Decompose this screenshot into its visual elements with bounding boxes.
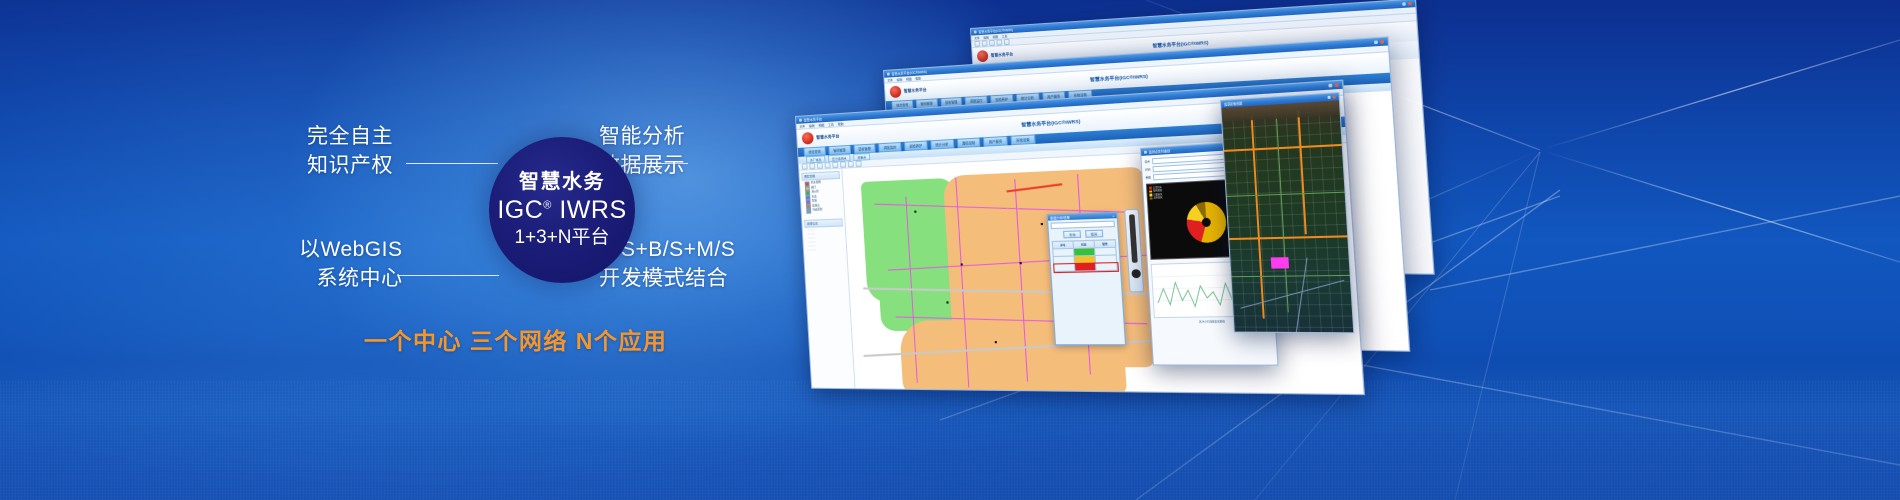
minimize-icon[interactable] — [799, 119, 802, 122]
hub-subtitle: 1+3+N平台 — [514, 227, 609, 249]
nav-item-4[interactable]: 巡检养护 — [904, 140, 928, 151]
menu-item-file[interactable]: 文件 — [887, 78, 893, 82]
screenshot-stack: 智慧水务平台(IGC®IWRS) 文件 编辑 视图 工具 智慧水务平台 智慧 — [795, 28, 1495, 388]
hub-title-en-second: IWRS — [559, 196, 626, 224]
floor-texture — [0, 380, 1900, 500]
map-node — [961, 263, 963, 265]
tool-print-icon[interactable] — [989, 40, 995, 46]
nav-sub-item-2[interactable]: 流量点 — [853, 153, 870, 161]
maximize-icon[interactable] — [1374, 40, 1378, 44]
legend-swatch — [1149, 187, 1152, 190]
tree-node-6[interactable]: 行政区划 — [803, 207, 842, 213]
minimize-icon[interactable] — [1144, 151, 1147, 154]
road-minor-h2 — [1231, 275, 1349, 278]
brand-text-back: 智慧水务平台 — [991, 51, 1014, 58]
selected-parcel[interactable] — [1271, 257, 1289, 268]
feature-label-top-right-line1: 智能分析 — [599, 125, 685, 148]
status-left: 就绪 — [815, 393, 820, 395]
menu-item-view[interactable]: 视图 — [906, 77, 912, 81]
maximize-icon[interactable] — [1328, 84, 1332, 88]
nav-item-6[interactable]: 漏损控制 — [956, 137, 980, 148]
feature-label-top-left: 完全自主 知识产权 — [307, 123, 393, 181]
dialog-confirm-button[interactable]: 查询 — [1063, 230, 1081, 238]
tool-zoom-in-icon[interactable] — [809, 163, 815, 169]
hub-title-en-main: IGC — [497, 196, 543, 224]
attr-row-5: ········· — [806, 247, 845, 252]
table-row[interactable] — [1054, 263, 1118, 272]
legend-swatch — [1149, 194, 1152, 197]
tool-pan-icon[interactable] — [825, 162, 831, 168]
legend-label-3: 其他损耗 — [1153, 196, 1162, 200]
feature-label-top-left-line2: 知识产权 — [307, 152, 393, 181]
map-node — [1041, 223, 1043, 225]
tool-save-icon[interactable] — [982, 40, 988, 46]
road-major-h1 — [1224, 144, 1342, 152]
menu-item-edit[interactable]: 编辑 — [983, 35, 989, 39]
map-node — [995, 341, 997, 343]
brand-text-front: 智慧水务平台 — [816, 133, 839, 140]
analysis-dialog-buttons[interactable]: 查询 取消 — [1051, 229, 1116, 239]
road-major-v1 — [1251, 116, 1265, 318]
map-node — [1019, 262, 1021, 264]
hero-banner: 完全自主 知识产权 以WebGIS 系统中心 智能分析 数据展示 C/S+B/S… — [0, 0, 1900, 500]
dialog-cancel-button[interactable]: 取消 — [1085, 230, 1103, 238]
nav-item-7[interactable]: 用户服务 — [983, 136, 1008, 147]
tool-measure-icon[interactable] — [832, 162, 838, 168]
close-icon[interactable] — [1380, 40, 1384, 44]
feature-label-bottom-right-line2: 开发模式结合 — [599, 265, 735, 294]
feature-label-bottom-left-line1: 以WebGIS — [299, 238, 402, 261]
maximize-icon[interactable] — [1402, 2, 1406, 5]
nav-item-5[interactable]: 统计分析 — [930, 139, 954, 150]
minimize-icon[interactable] — [887, 73, 890, 76]
tool-query-icon[interactable] — [848, 161, 854, 167]
product-hub-circle: 智慧水务 IGC® IWRS 1+3+N平台 — [489, 137, 635, 283]
hub-title-en: IGC® IWRS — [497, 196, 626, 226]
tool-print-icon[interactable] — [856, 161, 862, 167]
road-minor-h1 — [1227, 192, 1345, 198]
tool-identify-icon[interactable] — [840, 161, 846, 167]
company-logo-icon — [802, 132, 814, 145]
feature-label-bottom-left-line2: 系统中心 — [299, 265, 402, 294]
nav-item-8[interactable]: 系统设置 — [1010, 134, 1035, 145]
road-water-1 — [1240, 280, 1344, 309]
map-node — [914, 211, 916, 213]
menu-item-help[interactable]: 帮助 — [915, 76, 921, 80]
menu-item-view[interactable]: 视图 — [992, 34, 998, 38]
satellite-map-canvas[interactable] — [1221, 100, 1353, 333]
dialog-close-icon[interactable]: × — [1112, 213, 1114, 217]
nav-item-3[interactable]: 调度监控 — [878, 142, 901, 153]
tree-node-label-6: 行政区划 — [812, 208, 822, 212]
donut-legend: 正常供水 管网漏损 计量损失 其他损耗 — [1149, 186, 1163, 200]
pan-pad-icon[interactable] — [1131, 269, 1141, 278]
connector-line-bottom-left — [399, 275, 499, 276]
tool-zoom-out-icon[interactable] — [817, 163, 823, 169]
menu-item-edit[interactable]: 编辑 — [897, 77, 903, 81]
feature-label-top-left-line1: 完全自主 — [307, 125, 393, 148]
connector-line-top-left — [406, 163, 498, 164]
close-icon[interactable] — [1335, 83, 1339, 87]
menu-item-view[interactable]: 视图 — [818, 123, 824, 127]
road-major-v2 — [1297, 111, 1306, 234]
company-logo-icon — [890, 86, 902, 98]
legend-entry-3: 其他损耗 — [1150, 196, 1163, 200]
menu-item-file[interactable]: 文件 — [974, 36, 980, 40]
tool-open-icon[interactable] — [974, 41, 980, 47]
tool-zoom-icon[interactable] — [996, 39, 1002, 45]
menu-item-help[interactable]: 帮助 — [838, 121, 844, 125]
banner-tagline: 一个中心 三个网络 N个应用 — [364, 322, 667, 356]
menu-item-edit[interactable]: 编辑 — [809, 123, 815, 127]
minimize-icon[interactable] — [974, 30, 977, 33]
map-node — [946, 301, 948, 303]
donut-graphic — [1185, 201, 1227, 243]
brand-text-middle: 智慧水务平台 — [904, 87, 927, 94]
analysis-input-field[interactable] — [1050, 221, 1115, 230]
feature-label-bottom-left: 以WebGIS 系统中心 — [299, 236, 402, 294]
tree-group-attributes[interactable]: 属性信息 — [804, 218, 843, 227]
registered-mark-icon: ® — [543, 200, 552, 212]
filter-label-0: 站点 — [1144, 159, 1150, 163]
menu-item-file[interactable]: 文件 — [799, 124, 805, 128]
zoom-slider[interactable] — [1129, 214, 1138, 262]
legend-swatch — [1149, 190, 1152, 193]
screenshot-window-satellite-map: 遥感影像底图 就绪 比例尺 1:5000 — [1220, 92, 1354, 333]
minimize-icon[interactable] — [1327, 96, 1330, 99]
analysis-dialog[interactable]: 断面分析结果 × 查询 取消 序号 — [1047, 212, 1126, 346]
layer-swatch-icon — [806, 209, 811, 214]
app-title-front: 智慧水务平台(IGC®IWRS) — [1021, 119, 1080, 129]
tool-pan-icon[interactable] — [1004, 39, 1010, 45]
app-title-middle: 智慧水务平台(IGC®IWRS) — [1090, 74, 1148, 84]
menu-item-tools[interactable]: 工具 — [1002, 34, 1008, 38]
hub-title-cn: 智慧水务 — [519, 171, 605, 195]
filter-label-2: 参数 — [1145, 175, 1151, 179]
company-logo-icon — [977, 50, 989, 62]
close-icon[interactable] — [1333, 95, 1336, 98]
road-water-2 — [1295, 258, 1308, 334]
menu-item-tools[interactable]: 工具 — [828, 122, 834, 126]
analysis-result-table: 序号 状态 管径 — [1052, 239, 1118, 272]
tool-pointer-icon[interactable] — [802, 163, 808, 169]
road-major-h2 — [1229, 235, 1347, 240]
filter-label-1: 时间 — [1145, 167, 1151, 171]
legend-swatch — [1150, 197, 1153, 200]
analysis-dialog-body: 查询 取消 序号 状态 管径 — [1048, 218, 1120, 274]
close-icon[interactable] — [1408, 2, 1412, 5]
